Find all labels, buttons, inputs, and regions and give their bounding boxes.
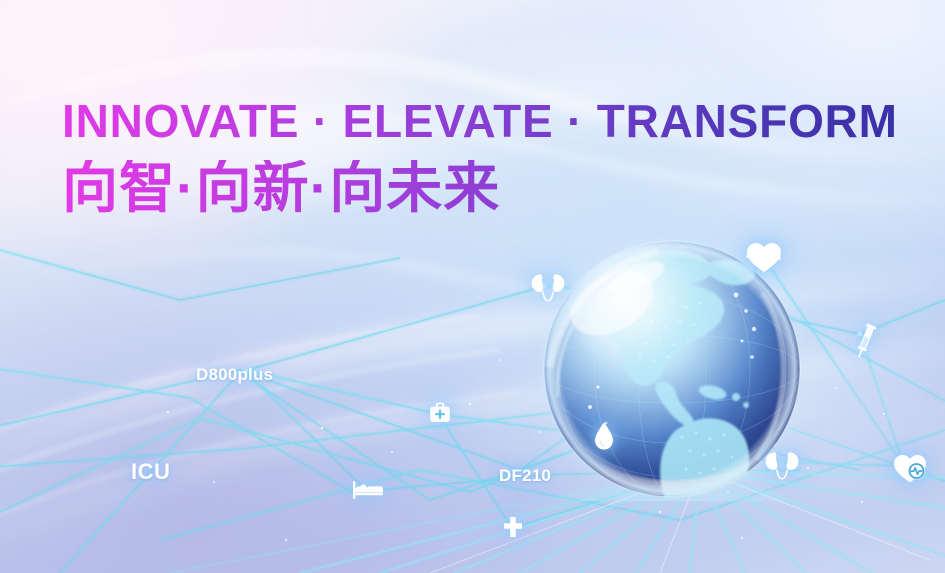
heart-pulse-icon	[745, 240, 783, 274]
heart-monitor-icon	[892, 452, 928, 484]
first-aid-kit-icon	[428, 402, 452, 426]
syringe-icon	[852, 322, 878, 362]
network-label-df210: DF210	[499, 466, 551, 486]
headline-block: INNOVATE · ELEVATE · TRANSFORM 向智·向新·向未来	[62, 98, 898, 216]
network-label-icu: ICU	[131, 459, 170, 485]
marketing-banner: D800plus ICU DF210 INNOVATE · ELEVATE · …	[0, 0, 945, 573]
kidneys-icon	[528, 272, 568, 306]
kidneys-icon	[762, 450, 802, 484]
network-label-d800plus: D800plus	[196, 365, 273, 385]
headline-chinese: 向智·向新·向未来	[62, 160, 898, 216]
medical-cross-icon	[502, 516, 524, 538]
headline-english: INNOVATE · ELEVATE · TRANSFORM	[62, 98, 898, 144]
water-drop-icon	[592, 421, 616, 451]
hospital-bed-icon	[352, 478, 384, 500]
